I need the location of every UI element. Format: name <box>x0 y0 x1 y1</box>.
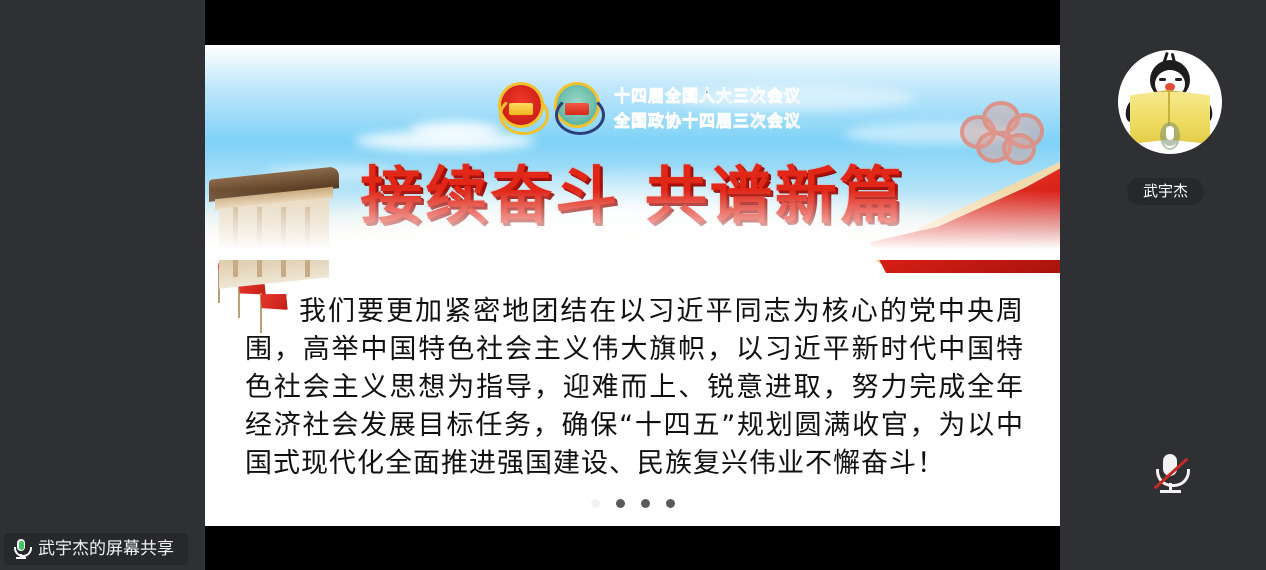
slide-pagination[interactable] <box>205 499 1060 508</box>
slide-banner: 十四届全国人大三次会议 全国政协十四届三次会议 接续奋斗 共谱新篇 <box>205 45 1060 260</box>
tiananmen-gate-icon <box>209 173 339 283</box>
banner-header-line-1: 十四届全国人大三次会议 <box>614 82 801 106</box>
slide-body-text: 我们要更加紧密地团结在以习近平同志为核心的党中央周围，高举中国特色社会主义伟大旗… <box>245 293 1024 483</box>
pagination-dot-4[interactable] <box>666 499 675 508</box>
banner-header-line-2: 全国政协十四届三次会议 <box>614 107 801 131</box>
presentation-slide[interactable]: 十四届全国人大三次会议 全国政协十四届三次会议 接续奋斗 共谱新篇 我们要更加紧… <box>205 45 1060 526</box>
participant-tile[interactable] <box>1118 50 1222 154</box>
microphone-muted-icon[interactable] <box>1150 452 1190 496</box>
banner-emblem-header: 十四届全国人大三次会议 全国政协十四届三次会议 <box>498 81 801 131</box>
pagination-dot-1[interactable] <box>591 499 600 508</box>
cppcc-emblem-icon <box>554 81 600 131</box>
screen-share-badge: 武宇杰的屏幕共享 <box>4 533 188 565</box>
pagination-dot-2[interactable] <box>616 499 625 508</box>
cloud-decoration <box>410 121 500 139</box>
speaking-indicator-icon <box>1160 122 1180 150</box>
participant-name: 武宇杰 <box>1127 178 1204 205</box>
pagination-dot-3[interactable] <box>641 499 650 508</box>
banner-title: 接续奋斗 共谱新篇 <box>205 145 1060 235</box>
screen-share-label: 武宇杰的屏幕共享 <box>38 539 174 559</box>
microphone-active-icon <box>13 539 29 559</box>
screen-share-stage[interactable]: 十四届全国人大三次会议 全国政协十四届三次会议 接续奋斗 共谱新篇 我们要更加紧… <box>205 0 1060 570</box>
national-emblem-icon <box>498 81 544 131</box>
